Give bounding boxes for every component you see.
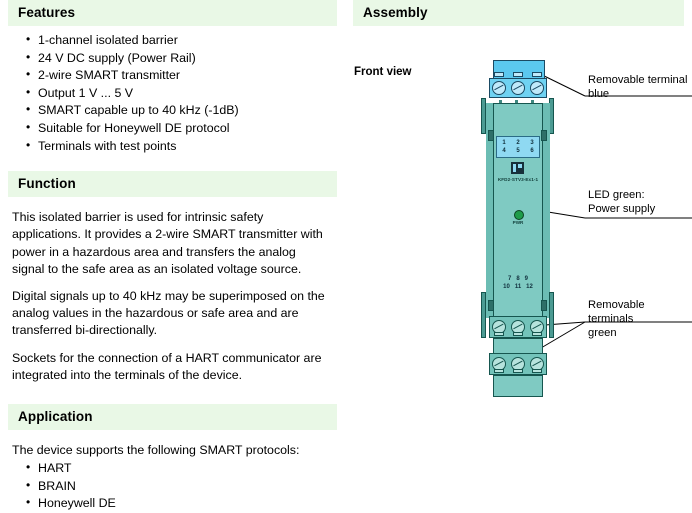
screw-icon xyxy=(492,81,506,95)
callout-line-2: blue xyxy=(588,87,688,101)
terminal-number: 3 xyxy=(530,139,533,147)
terminal-number: 1 xyxy=(502,139,505,147)
terminal-number: 12 xyxy=(526,283,533,291)
features-list: 1-channel isolated barrier 24 V DC suppl… xyxy=(0,32,345,155)
features-heading: Features xyxy=(8,0,337,26)
callout-removable-terminals-green: Removable terminals green xyxy=(588,298,692,340)
list-item: 1-channel isolated barrier xyxy=(26,32,345,50)
terminal-number: 2 xyxy=(516,139,519,147)
terminal-slot xyxy=(513,369,523,373)
application-heading: Application xyxy=(8,404,337,430)
function-paragraph: Digital signals up to 40 kHz may be supe… xyxy=(12,278,329,340)
left-column: Features 1-channel isolated barrier 24 V… xyxy=(0,0,345,474)
list-item: Suitable for Honeywell DE protocol xyxy=(26,120,345,138)
green-terminal-slots-upper xyxy=(489,332,547,336)
terminal-slot xyxy=(532,332,542,336)
housing-clip xyxy=(541,300,547,311)
assembly-heading: Assembly xyxy=(353,0,684,26)
terminal-number: 7 xyxy=(508,275,511,283)
list-item: 24 V DC supply (Power Rail) xyxy=(26,50,345,68)
terminal-number: 5 xyxy=(516,147,519,155)
callout-line-1: Removable terminals xyxy=(588,298,692,326)
front-view-label: Front view xyxy=(354,66,412,78)
list-item: Output 1 V ... 5 V xyxy=(26,85,345,103)
manufacturer-logo-icon xyxy=(511,162,524,174)
terminal-number: 10 xyxy=(503,283,510,291)
terminal-number: 9 xyxy=(525,275,528,283)
blue-terminal-screw-block xyxy=(489,78,547,98)
housing-clip xyxy=(488,130,494,141)
function-paragraph: This isolated barrier is used for intrin… xyxy=(12,197,329,278)
function-paragraph: Sockets for the connection of a HART com… xyxy=(12,340,329,384)
housing-clip xyxy=(541,130,547,141)
housing-rail-left-bottom xyxy=(481,292,486,338)
housing-clip xyxy=(488,300,494,311)
screw-icon xyxy=(530,81,544,95)
list-item: BRAIN xyxy=(26,478,345,496)
green-terminal-slots-lower xyxy=(489,369,547,373)
terminal-number: 11 xyxy=(515,283,521,291)
power-led-icon xyxy=(514,210,524,220)
green-terminal-foot-lower xyxy=(493,375,543,397)
function-heading: Function xyxy=(8,171,337,197)
application-list: HART BRAIN Honeywell DE xyxy=(0,460,345,513)
terminal-slot xyxy=(494,369,504,373)
datasheet-page: Features 1-channel isolated barrier 24 V… xyxy=(0,0,692,474)
terminal-slot xyxy=(494,332,504,336)
right-column: Assembly Front view Removable terminal b… xyxy=(345,0,692,474)
device-model-number: KFD2-STV3-Ex1-1 xyxy=(485,177,551,182)
list-item: 2-wire SMART transmitter xyxy=(26,67,345,85)
device-front-view-illustration: 1 2 3 4 5 6 KFD2-STV3-Ex1-1 PWR 7 8 xyxy=(473,60,568,370)
callout-line-2: Power supply xyxy=(588,202,655,216)
terminal-number: 6 xyxy=(530,147,533,155)
terminal-slot xyxy=(494,72,504,77)
terminal-number: 8 xyxy=(516,275,519,283)
list-item: Honeywell DE xyxy=(26,495,345,513)
callout-removable-terminal-blue: Removable terminal blue xyxy=(588,73,688,101)
terminal-number: 4 xyxy=(502,147,505,155)
blue-terminal-slots xyxy=(489,71,547,78)
terminal-slot xyxy=(532,369,542,373)
list-item: Terminals with test points xyxy=(26,138,345,156)
callout-line-2: green xyxy=(588,326,692,340)
callout-line-1: Removable terminal xyxy=(588,73,688,87)
terminal-slot xyxy=(532,72,542,77)
housing-rail-right-bottom xyxy=(549,292,554,338)
terminal-slot xyxy=(513,332,523,336)
callout-line-1: LED green: xyxy=(588,188,655,202)
list-item: SMART capable up to 40 kHz (-1dB) xyxy=(26,102,345,120)
terminal-slot xyxy=(513,72,523,77)
terminal-number-plate-bottom: 7 8 9 10 11 12 xyxy=(486,275,550,291)
screw-icon xyxy=(511,81,525,95)
terminal-number-plate-top: 1 2 3 4 5 6 xyxy=(496,136,540,158)
application-lead-text: The device supports the following SMART … xyxy=(12,430,329,459)
list-item: HART xyxy=(26,460,345,478)
callout-led-green: LED green: Power supply xyxy=(588,188,655,216)
led-label: PWR xyxy=(501,220,535,225)
